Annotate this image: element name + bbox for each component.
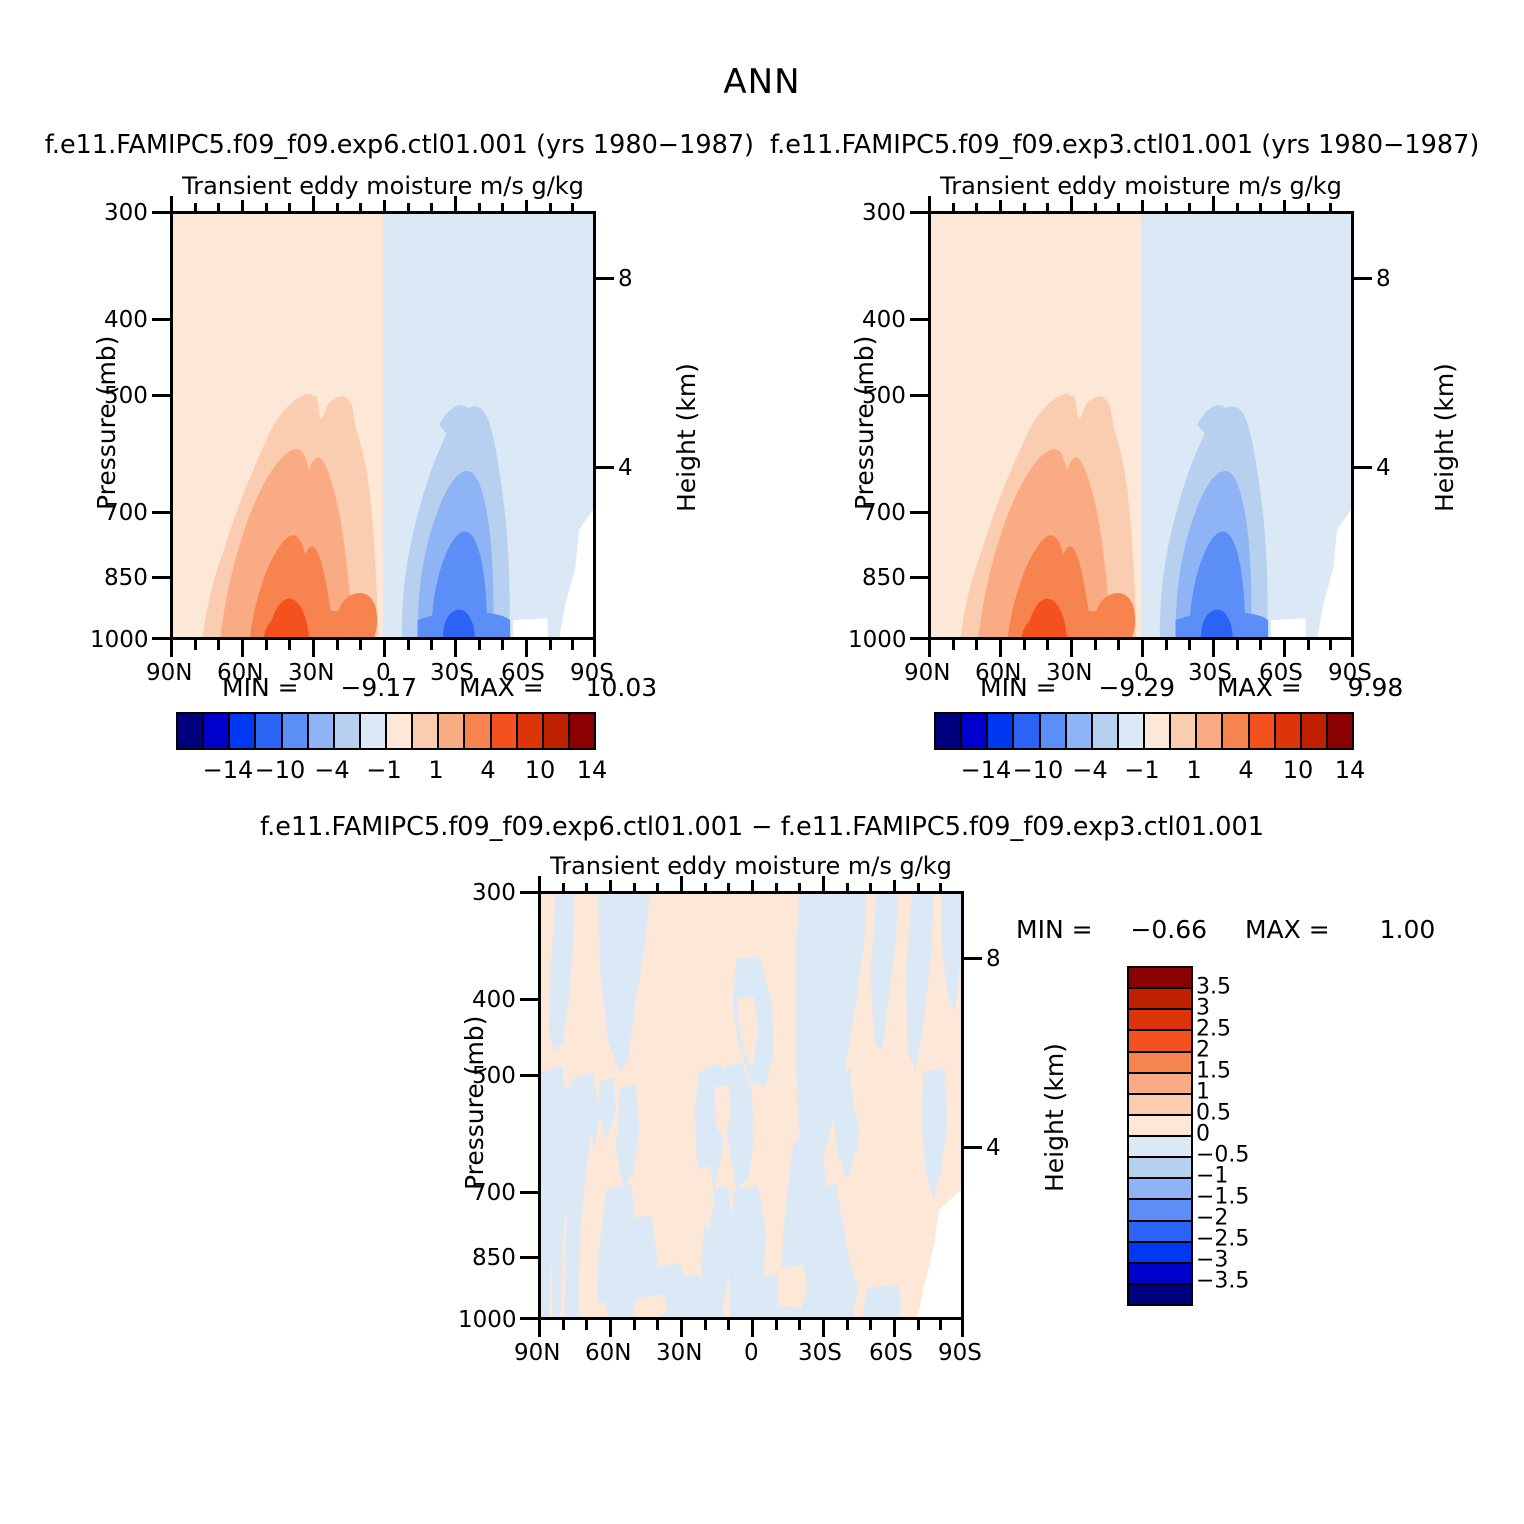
colorbar-cell bbox=[1129, 1053, 1191, 1074]
ytick-850: 850 bbox=[104, 565, 148, 591]
case-titles-row: f.e11.FAMIPC5.f09_f09.exp6.ctl01.001 (yr… bbox=[0, 130, 1524, 160]
colorbar-cell bbox=[988, 714, 1014, 748]
colorbar-tick-label: 10 bbox=[525, 756, 556, 784]
xtick-60N-d: 60N bbox=[585, 1340, 631, 1366]
colorbar-cell bbox=[1250, 714, 1276, 748]
y2label-right: Height (km) bbox=[1430, 363, 1459, 512]
colorbar-cell bbox=[309, 714, 335, 748]
colorbar-cell bbox=[230, 714, 256, 748]
colorbar-cell bbox=[962, 714, 988, 748]
colorbar-cell bbox=[1129, 1074, 1191, 1095]
xtick-90S-d: 90S bbox=[938, 1340, 982, 1366]
colorbar-cell bbox=[1014, 714, 1040, 748]
colorbar-cell bbox=[1129, 1285, 1191, 1304]
xtick-90N-r: 90N bbox=[904, 660, 950, 686]
colorbar-cell bbox=[1129, 1010, 1191, 1031]
colorbar-cell bbox=[1129, 1116, 1191, 1137]
colorbar-cell bbox=[361, 714, 387, 748]
colorbar-tick-label: −3.5 bbox=[1196, 1269, 1249, 1294]
colorbar-tick-label: −1 bbox=[1124, 756, 1159, 784]
colorbar-cell bbox=[1171, 714, 1197, 748]
max-value-left: 10.03 bbox=[586, 673, 658, 702]
colorbar-cell bbox=[1129, 1179, 1191, 1200]
min-label-right: MIN = bbox=[980, 673, 1057, 702]
ytick-400: 400 bbox=[104, 307, 148, 333]
colorbar-cell bbox=[1129, 1200, 1191, 1221]
ytick-300-d: 300 bbox=[472, 880, 516, 906]
y2label-left: Height (km) bbox=[672, 363, 701, 512]
colorbar-cell bbox=[1223, 714, 1249, 748]
panel-subtitle-diff: Transient eddy moisture m/s g/kg bbox=[538, 852, 964, 880]
max-value-diff: 1.00 bbox=[1380, 915, 1436, 944]
colorbar-cell bbox=[1197, 714, 1223, 748]
colorbar-cell bbox=[1129, 1031, 1191, 1052]
colorbar-tick-label: −10 bbox=[1013, 756, 1064, 784]
ytick-1000-r: 1000 bbox=[848, 627, 907, 653]
ylabel-diff: Pressure (mb) bbox=[460, 1016, 489, 1190]
panel-subtitle-right: Transient eddy moisture m/s g/kg bbox=[928, 172, 1354, 200]
ylabel-left: Pressure (mb) bbox=[92, 336, 121, 510]
diff-title: f.e11.FAMIPC5.f09_f09.exp6.ctl01.001 − f… bbox=[0, 812, 1524, 842]
ytick-400-r: 400 bbox=[862, 307, 906, 333]
colorbar-cell bbox=[1041, 714, 1067, 748]
y2tick-4-d: 4 bbox=[986, 1135, 1001, 1161]
colorbar-tick-label: 14 bbox=[577, 756, 608, 784]
ytick-850-r: 850 bbox=[862, 565, 906, 591]
colorbar-cell bbox=[1129, 1137, 1191, 1158]
colorbar-tick-label: 4 bbox=[480, 756, 495, 784]
colorbar-cell bbox=[1093, 714, 1119, 748]
xtick-30S-d: 30S bbox=[798, 1340, 842, 1366]
colorbar-cell bbox=[413, 714, 439, 748]
contour-plot-diff[interactable] bbox=[538, 891, 964, 1320]
colorbar-diff[interactable] bbox=[1127, 966, 1193, 1306]
max-label-left: MAX = bbox=[459, 673, 544, 702]
colorbar-cell bbox=[1129, 1264, 1191, 1285]
xtick-60S-d: 60S bbox=[869, 1340, 913, 1366]
colorbar-cell bbox=[1129, 989, 1191, 1010]
min-value-left: −9.17 bbox=[340, 673, 417, 702]
y2tick-4-r: 4 bbox=[1376, 455, 1391, 481]
contour-plot-left[interactable] bbox=[170, 211, 596, 640]
contour-plot-right[interactable] bbox=[928, 211, 1354, 640]
minmax-left: MIN = −9.17 MAX = 10.03 bbox=[222, 673, 657, 702]
case-title-right: f.e11.FAMIPC5.f09_f09.exp3.ctl01.001 (yr… bbox=[770, 130, 1479, 160]
xtick-90N-d: 90N bbox=[514, 1340, 560, 1366]
colorbar-cell bbox=[570, 714, 594, 748]
colorbar-cell bbox=[283, 714, 309, 748]
colorbar-cell bbox=[936, 714, 962, 748]
ytick-1000: 1000 bbox=[90, 627, 149, 653]
colorbar-tick-label: −4 bbox=[314, 756, 349, 784]
colorbar-cell bbox=[1302, 714, 1328, 748]
colorbar-left[interactable] bbox=[176, 712, 596, 750]
ylabel-right: Pressure (mb) bbox=[850, 336, 879, 510]
ytick-850-d: 850 bbox=[472, 1245, 516, 1271]
colorbar-cell bbox=[518, 714, 544, 748]
colorbar-tick-label: 10 bbox=[1283, 756, 1314, 784]
colorbar-tick-label: −4 bbox=[1072, 756, 1107, 784]
colorbar-cell bbox=[465, 714, 491, 748]
colorbar-cell bbox=[335, 714, 361, 748]
panel-subtitle-left: Transient eddy moisture m/s g/kg bbox=[170, 172, 596, 200]
min-value-diff: −0.66 bbox=[1130, 915, 1207, 944]
minmax-right: MIN = −9.29 MAX = 9.98 bbox=[980, 673, 1403, 702]
case-title-left: f.e11.FAMIPC5.f09_f09.exp6.ctl01.001 (yr… bbox=[45, 130, 754, 160]
y2label-diff: Height (km) bbox=[1040, 1043, 1069, 1192]
max-value-right: 9.98 bbox=[1348, 673, 1404, 702]
minmax-diff: MIN = −0.66 MAX = 1.00 bbox=[1016, 915, 1435, 944]
colorbar-cell bbox=[1129, 1243, 1191, 1264]
min-label-diff: MIN = bbox=[1016, 915, 1093, 944]
xtick-0-d: 0 bbox=[744, 1340, 759, 1366]
y2tick-8-r: 8 bbox=[1376, 266, 1391, 292]
colorbar-cell bbox=[1276, 714, 1302, 748]
colorbar-cell bbox=[1129, 1095, 1191, 1116]
colorbar-diff-labels: 3.532.521.510.50−0.5−1−1.5−2−2.5−3−3.5 bbox=[1196, 966, 1266, 1302]
colorbar-cell bbox=[492, 714, 518, 748]
colorbar-cell bbox=[256, 714, 282, 748]
colorbar-cell bbox=[1067, 714, 1093, 748]
colorbar-cell bbox=[1129, 1158, 1191, 1179]
ytick-300: 300 bbox=[104, 200, 148, 226]
colorbar-left-labels: −14−10−4−1141014 bbox=[176, 756, 592, 786]
colorbar-cell bbox=[1129, 1222, 1191, 1243]
colorbar-tick-label: −14 bbox=[203, 756, 254, 784]
y2tick-8-d: 8 bbox=[986, 946, 1001, 972]
page-title: ANN bbox=[0, 62, 1524, 102]
colorbar-tick-label: −1 bbox=[366, 756, 401, 784]
max-label-right: MAX = bbox=[1217, 673, 1302, 702]
y2tick-4: 4 bbox=[618, 455, 633, 481]
colorbar-tick-label: 1 bbox=[1186, 756, 1201, 784]
colorbar-tick-label: −14 bbox=[961, 756, 1012, 784]
colorbar-cell bbox=[387, 714, 413, 748]
colorbar-tick-label: 1 bbox=[428, 756, 443, 784]
colorbar-cell bbox=[439, 714, 465, 748]
colorbar-cell bbox=[1328, 714, 1352, 748]
xtick-90N: 90N bbox=[146, 660, 192, 686]
min-label-left: MIN = bbox=[222, 673, 299, 702]
colorbar-cell bbox=[178, 714, 204, 748]
ytick-400-d: 400 bbox=[472, 987, 516, 1013]
min-value-right: −9.29 bbox=[1098, 673, 1175, 702]
max-label-diff: MAX = bbox=[1245, 915, 1330, 944]
colorbar-tick-label: 14 bbox=[1335, 756, 1366, 784]
y2tick-8: 8 bbox=[618, 266, 633, 292]
ytick-300-r: 300 bbox=[862, 200, 906, 226]
colorbar-cell bbox=[1119, 714, 1145, 748]
colorbar-cell bbox=[1145, 714, 1171, 748]
colorbar-right[interactable] bbox=[934, 712, 1354, 750]
colorbar-right-labels: −14−10−4−1141014 bbox=[934, 756, 1350, 786]
colorbar-cell bbox=[1129, 968, 1191, 989]
colorbar-tick-label: 4 bbox=[1238, 756, 1253, 784]
ytick-1000-d: 1000 bbox=[458, 1307, 517, 1333]
xtick-30N-d: 30N bbox=[656, 1340, 702, 1366]
colorbar-tick-label: −10 bbox=[255, 756, 306, 784]
colorbar-cell bbox=[544, 714, 570, 748]
colorbar-cell bbox=[204, 714, 230, 748]
